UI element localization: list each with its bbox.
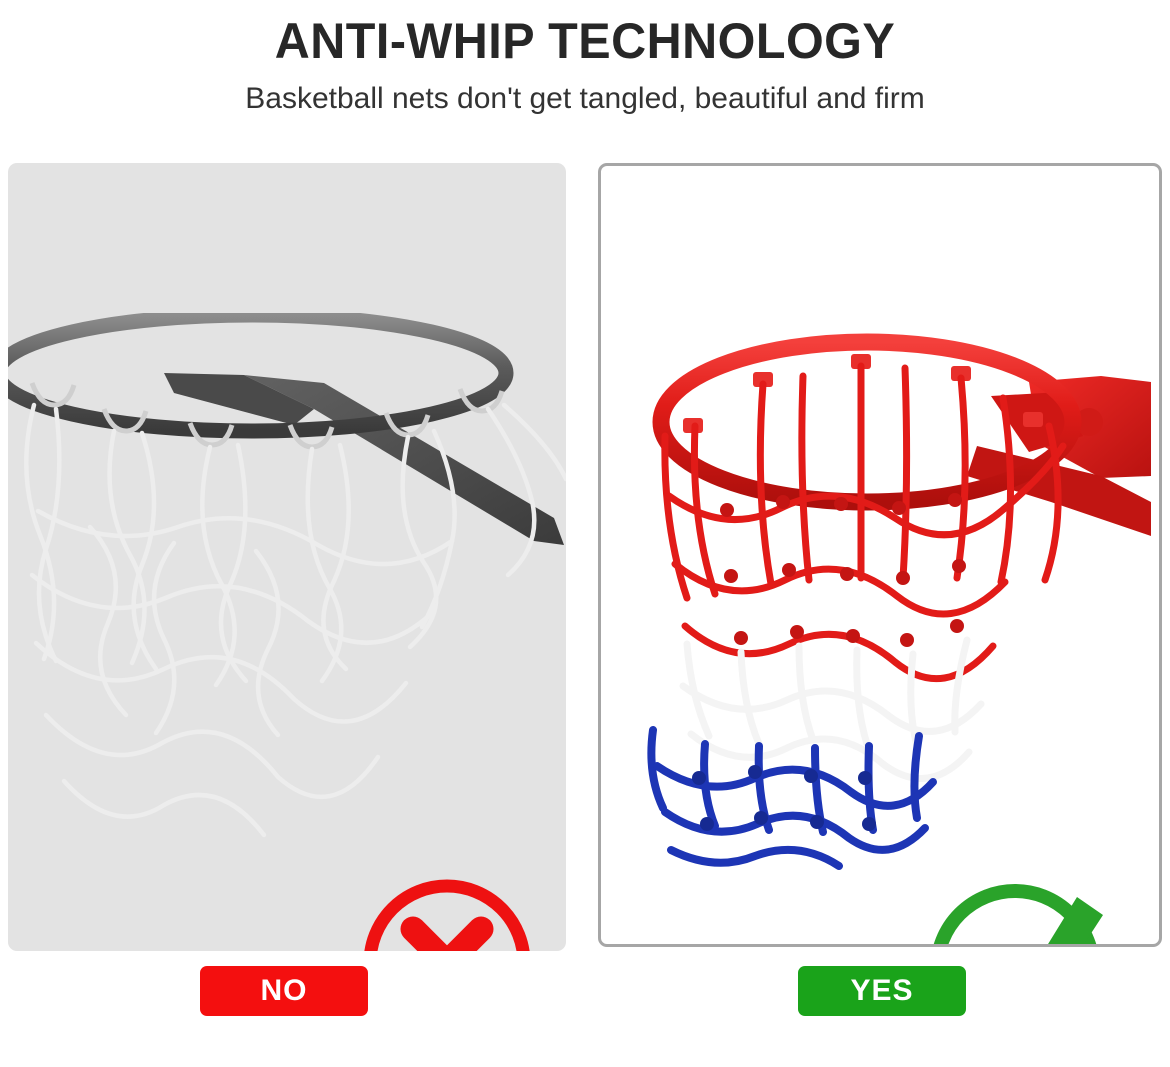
cross-circle-icon (360, 876, 534, 951)
hoop-anti-whip-illustration (631, 326, 1159, 886)
photo-anti-whip-net (601, 166, 1159, 944)
badge-no[interactable]: NO (200, 966, 368, 1016)
net-knots-blue (692, 765, 876, 831)
check-circle-icon (927, 875, 1113, 947)
verdict-badges: NO YES (0, 966, 1170, 1026)
photo-tangled-net (8, 163, 566, 951)
hoop-tangled-illustration (8, 313, 566, 873)
comparison-panels (0, 163, 1170, 953)
header: ANTI-WHIP TECHNOLOGY Basketball nets don… (0, 0, 1170, 115)
panel-good-example (598, 163, 1162, 947)
tangled-net-strands (26, 405, 566, 835)
badge-yes[interactable]: YES (798, 966, 966, 1016)
net-section-white (683, 640, 981, 778)
net-section-blue (651, 730, 933, 866)
infographic-root: ANTI-WHIP TECHNOLOGY Basketball nets don… (0, 0, 1170, 1067)
page-title: ANTI-WHIP TECHNOLOGY (18, 0, 1153, 68)
net-section-red (665, 366, 1063, 679)
page-subtitle: Basketball nets don't get tangled, beaut… (0, 68, 1170, 115)
panel-bad-example (8, 163, 566, 951)
